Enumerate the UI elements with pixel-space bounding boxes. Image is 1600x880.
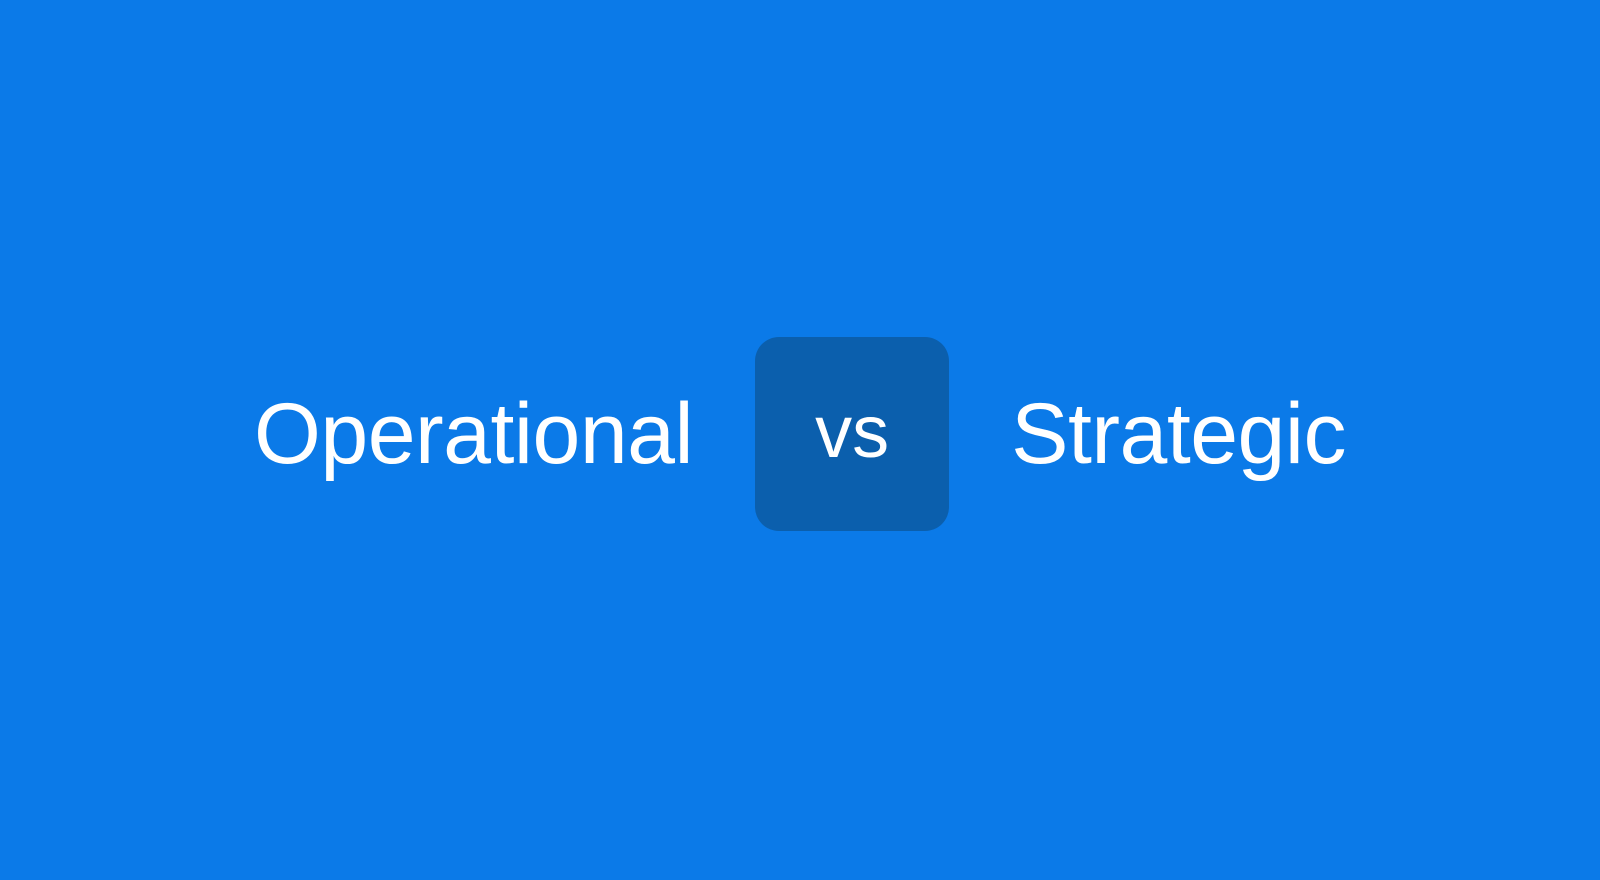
comparison-term-left: Operational [254,391,693,477]
slide-canvas: Operational vs Strategic [0,0,1600,880]
vs-badge: vs [755,337,949,531]
comparison-row: Operational vs Strategic [254,337,1346,531]
comparison-term-right: Strategic [1011,391,1346,477]
vs-badge-label: vs [815,395,889,469]
